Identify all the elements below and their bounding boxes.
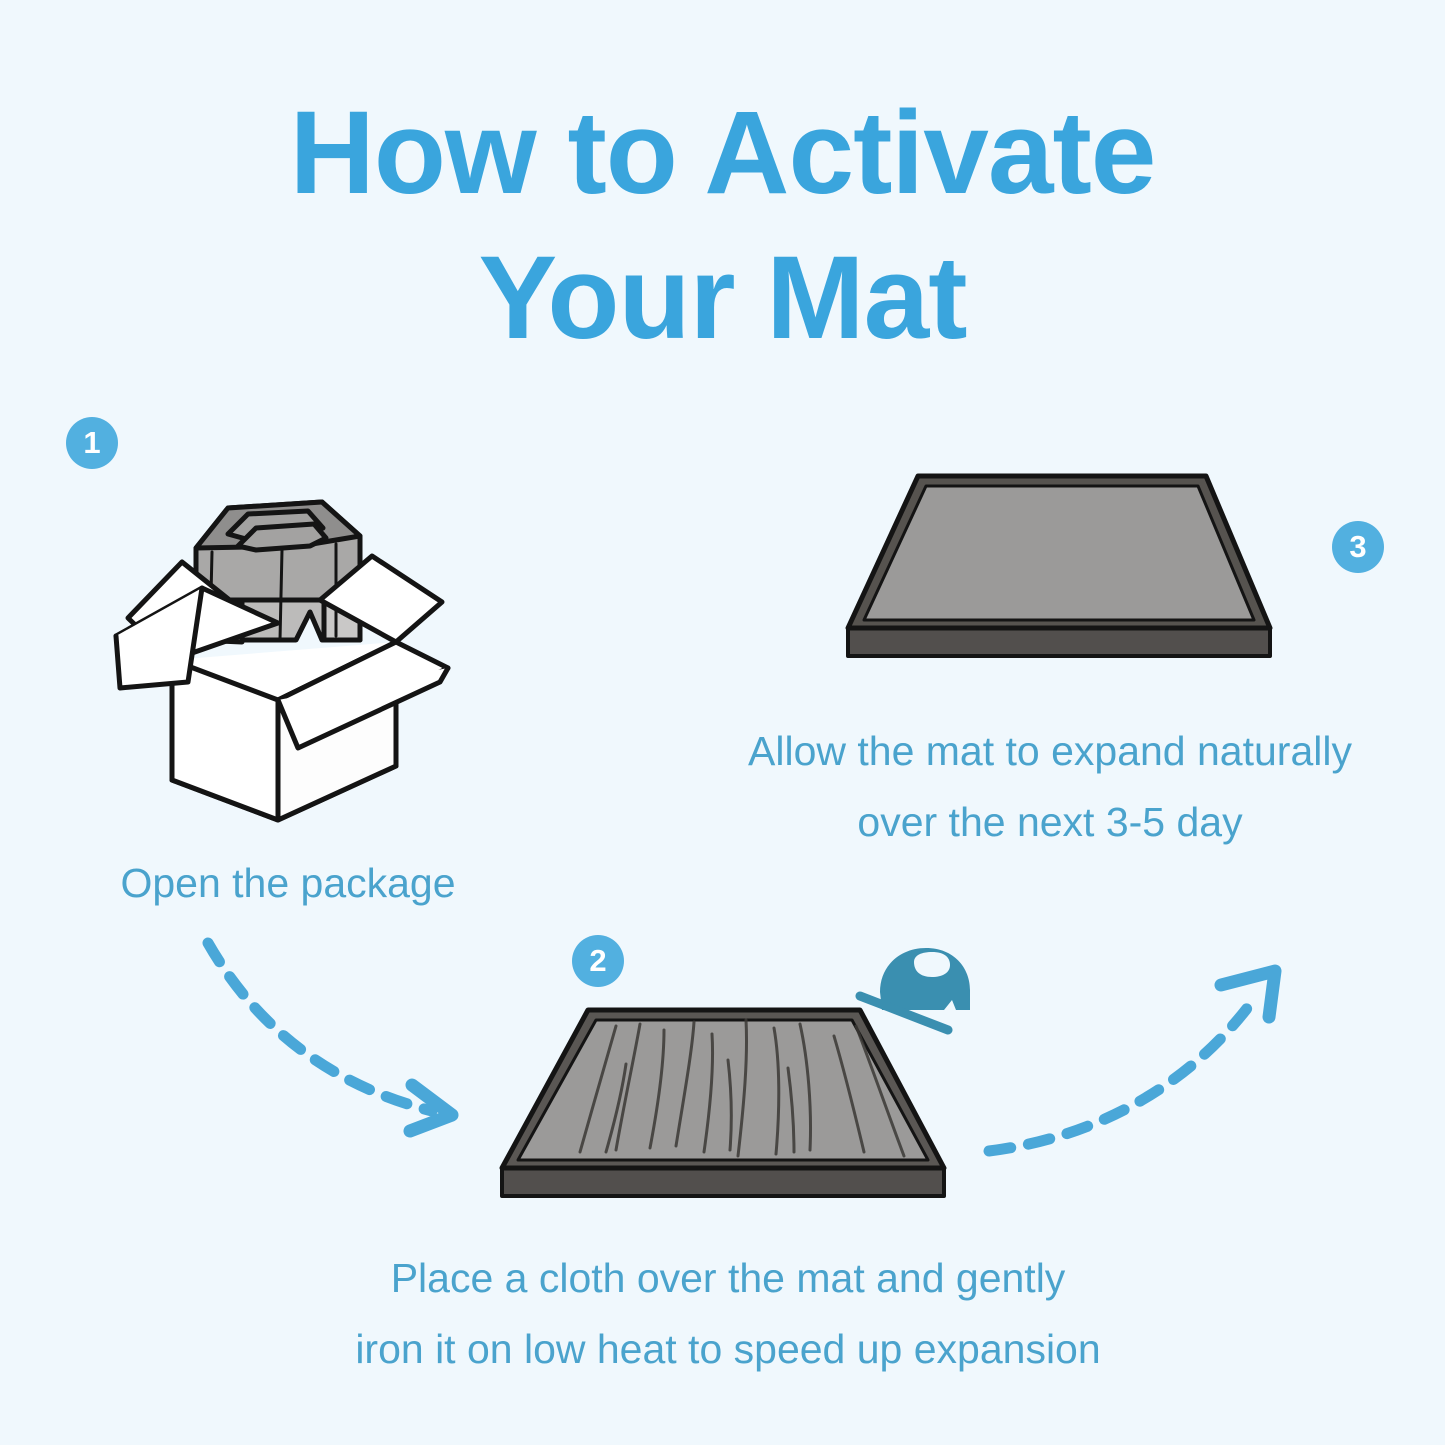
iron-icon [852,938,982,1050]
infographic-canvas: How to Activate Your Mat 1 [0,0,1445,1445]
expanded-flat-mat-illustration [830,468,1300,678]
step-1-badge: 1 [66,417,118,469]
dashed-arrow-step1-to-step2 [160,915,510,1155]
mat-with-cloth-illustration [488,1000,958,1215]
step-3-caption-line-2: over the next 3-5 day [857,799,1242,845]
step-3-caption: Allow the mat to expand naturally over t… [676,716,1424,857]
step-2-badge: 2 [572,935,624,987]
step-3-badge: 3 [1332,521,1384,573]
step-3-caption-line-1: Allow the mat to expand naturally [748,728,1352,774]
step-2-caption-line-1: Place a cloth over the mat and gently [391,1255,1066,1301]
step-2-caption: Place a cloth over the mat and gently ir… [238,1243,1218,1384]
page-title: How to Activate Your Mat [0,78,1445,374]
page-title-line-2: Your Mat [0,223,1445,374]
step-1-caption: Open the package [28,848,548,919]
page-title-line-1: How to Activate [0,78,1445,229]
step-2-caption-line-2: iron it on low heat to speed up expansio… [355,1326,1100,1372]
dashed-arrow-step2-to-step3 [975,955,1315,1185]
open-box-with-packed-mat-illustration [110,490,460,830]
